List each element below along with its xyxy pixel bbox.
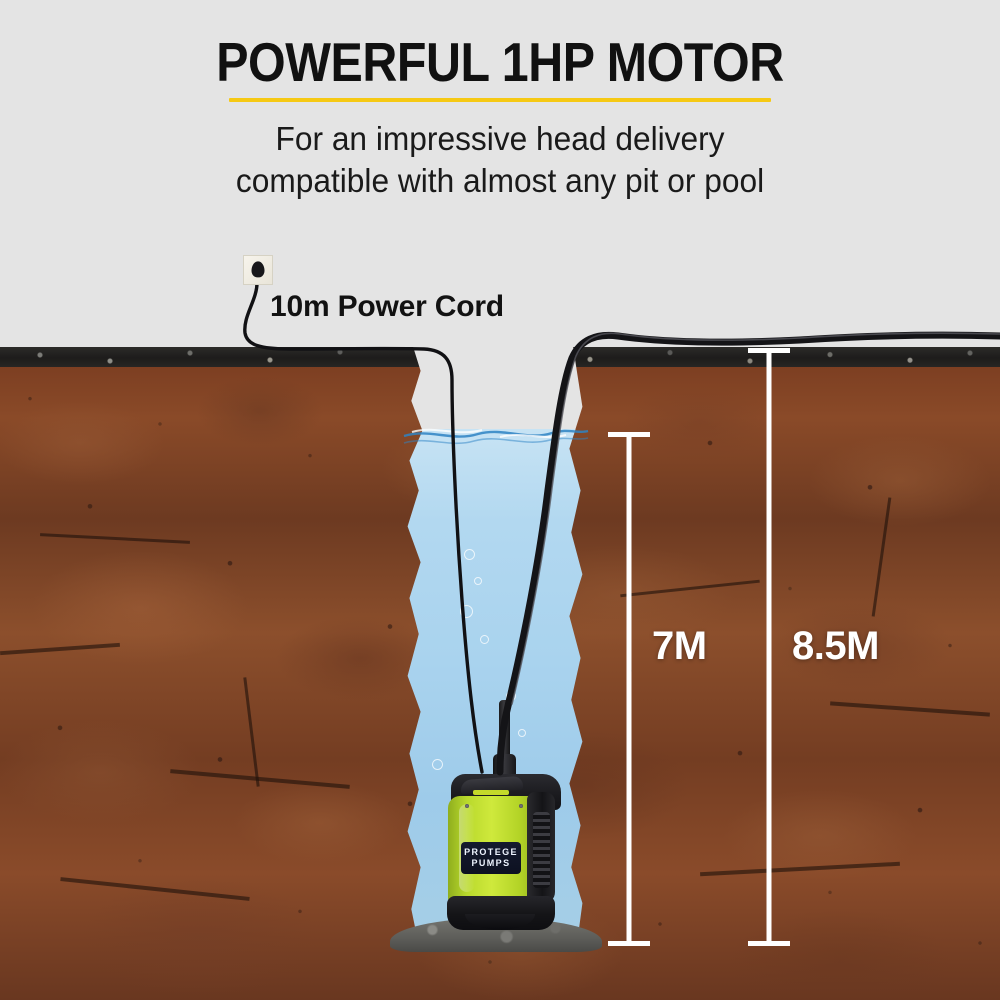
measure-7m-bottom-cap bbox=[608, 941, 650, 946]
measure-8-5m-bottom-cap bbox=[748, 941, 790, 946]
measure-7m bbox=[608, 432, 650, 948]
water-bubble bbox=[432, 759, 443, 770]
brand-line-1: PROTEGE bbox=[464, 847, 518, 858]
subtitle-line-1: For an impressive head delivery bbox=[20, 118, 980, 160]
brand-line-2: PUMPS bbox=[471, 858, 510, 869]
pump-accent-strip bbox=[473, 790, 509, 795]
pit-air-gap bbox=[402, 347, 588, 435]
pump-brand-label: PROTEGE PUMPS bbox=[461, 842, 521, 874]
pump-hose bbox=[499, 700, 510, 762]
measure-8-5m-label: 8.5M bbox=[792, 624, 879, 669]
page-title: POWERFUL 1HP MOTOR bbox=[60, 34, 940, 92]
pump-screw bbox=[519, 804, 523, 808]
subtitle-line-2: compatible with almost any pit or pool bbox=[20, 160, 980, 202]
pump-screw bbox=[465, 804, 469, 808]
measure-8-5m-stem bbox=[767, 348, 772, 946]
measure-7m-stem bbox=[627, 432, 632, 946]
measure-7m-label: 7M bbox=[652, 624, 707, 669]
title-divider bbox=[229, 98, 771, 102]
pump-vent-grille bbox=[533, 812, 550, 888]
water-bubble bbox=[460, 605, 473, 618]
water-bubble bbox=[464, 549, 475, 560]
page-subtitle: For an impressive head delivery compatib… bbox=[20, 118, 980, 202]
submersible-pump: PROTEGE PUMPS bbox=[443, 700, 568, 930]
measure-8-5m bbox=[748, 348, 790, 948]
header-block: POWERFUL 1HP MOTOR For an impressive hea… bbox=[0, 0, 1000, 347]
infographic-canvas: POWERFUL 1HP MOTOR For an impressive hea… bbox=[0, 0, 1000, 1000]
water-bubble bbox=[480, 635, 489, 644]
water-bubble bbox=[474, 577, 482, 585]
